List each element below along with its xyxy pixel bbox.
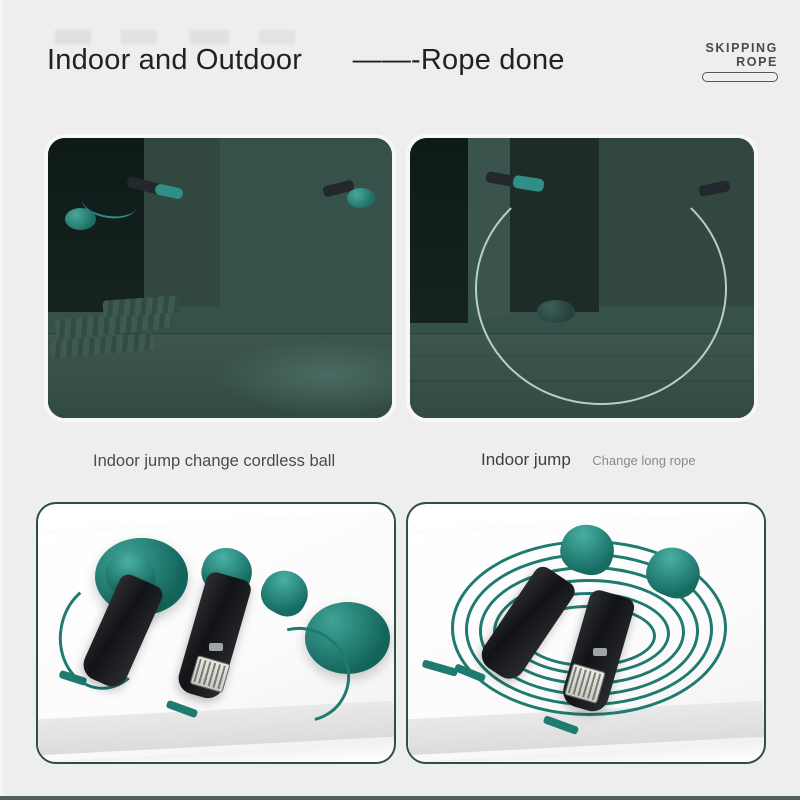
wall-dark (410, 138, 468, 323)
weighted-ball-right (347, 188, 375, 208)
rope-bar-icon (702, 72, 778, 82)
title-part-2: ——-Rope done (353, 44, 565, 76)
caption-left-text: Indoor jump change cordless ball (93, 452, 335, 470)
wall-dark (48, 138, 151, 312)
wall-block (144, 138, 220, 306)
counter-button (593, 648, 607, 656)
photo-panel-long-rope[interactable] (410, 138, 754, 418)
caption-long-rope: Indoor jump Change long rope (481, 450, 696, 470)
bottom-edge-strip (0, 796, 800, 800)
long-rope-arc (475, 172, 727, 406)
compression-artifact (55, 30, 355, 44)
page-title: Indoor and Outdoor ——-Rope done (47, 44, 565, 77)
brand-line-2: ROPE (660, 55, 778, 69)
studio-scene (48, 138, 392, 418)
counter-button (209, 643, 223, 651)
counter-digits (193, 658, 227, 689)
caption-cordless: Indoor jump change cordless ball (93, 452, 335, 471)
brand-logo: SKIPPING ROPE (660, 41, 778, 82)
caption-right-main: Indoor jump (481, 450, 571, 469)
left-edge-strip (0, 0, 3, 800)
title-part-1: Indoor and Outdoor (47, 44, 302, 76)
caption-right-sub: Change long rope (592, 453, 695, 468)
product-panel-long-rope[interactable] (406, 502, 766, 764)
brand-line-1: SKIPPING (660, 41, 778, 55)
studio-scene (410, 138, 754, 418)
page-header: Indoor and Outdoor ——-Rope done SKIPPING… (0, 0, 800, 118)
photo-panel-cordless[interactable] (48, 138, 392, 418)
product-panel-cordless[interactable] (36, 502, 396, 764)
counter-digits (568, 666, 602, 700)
